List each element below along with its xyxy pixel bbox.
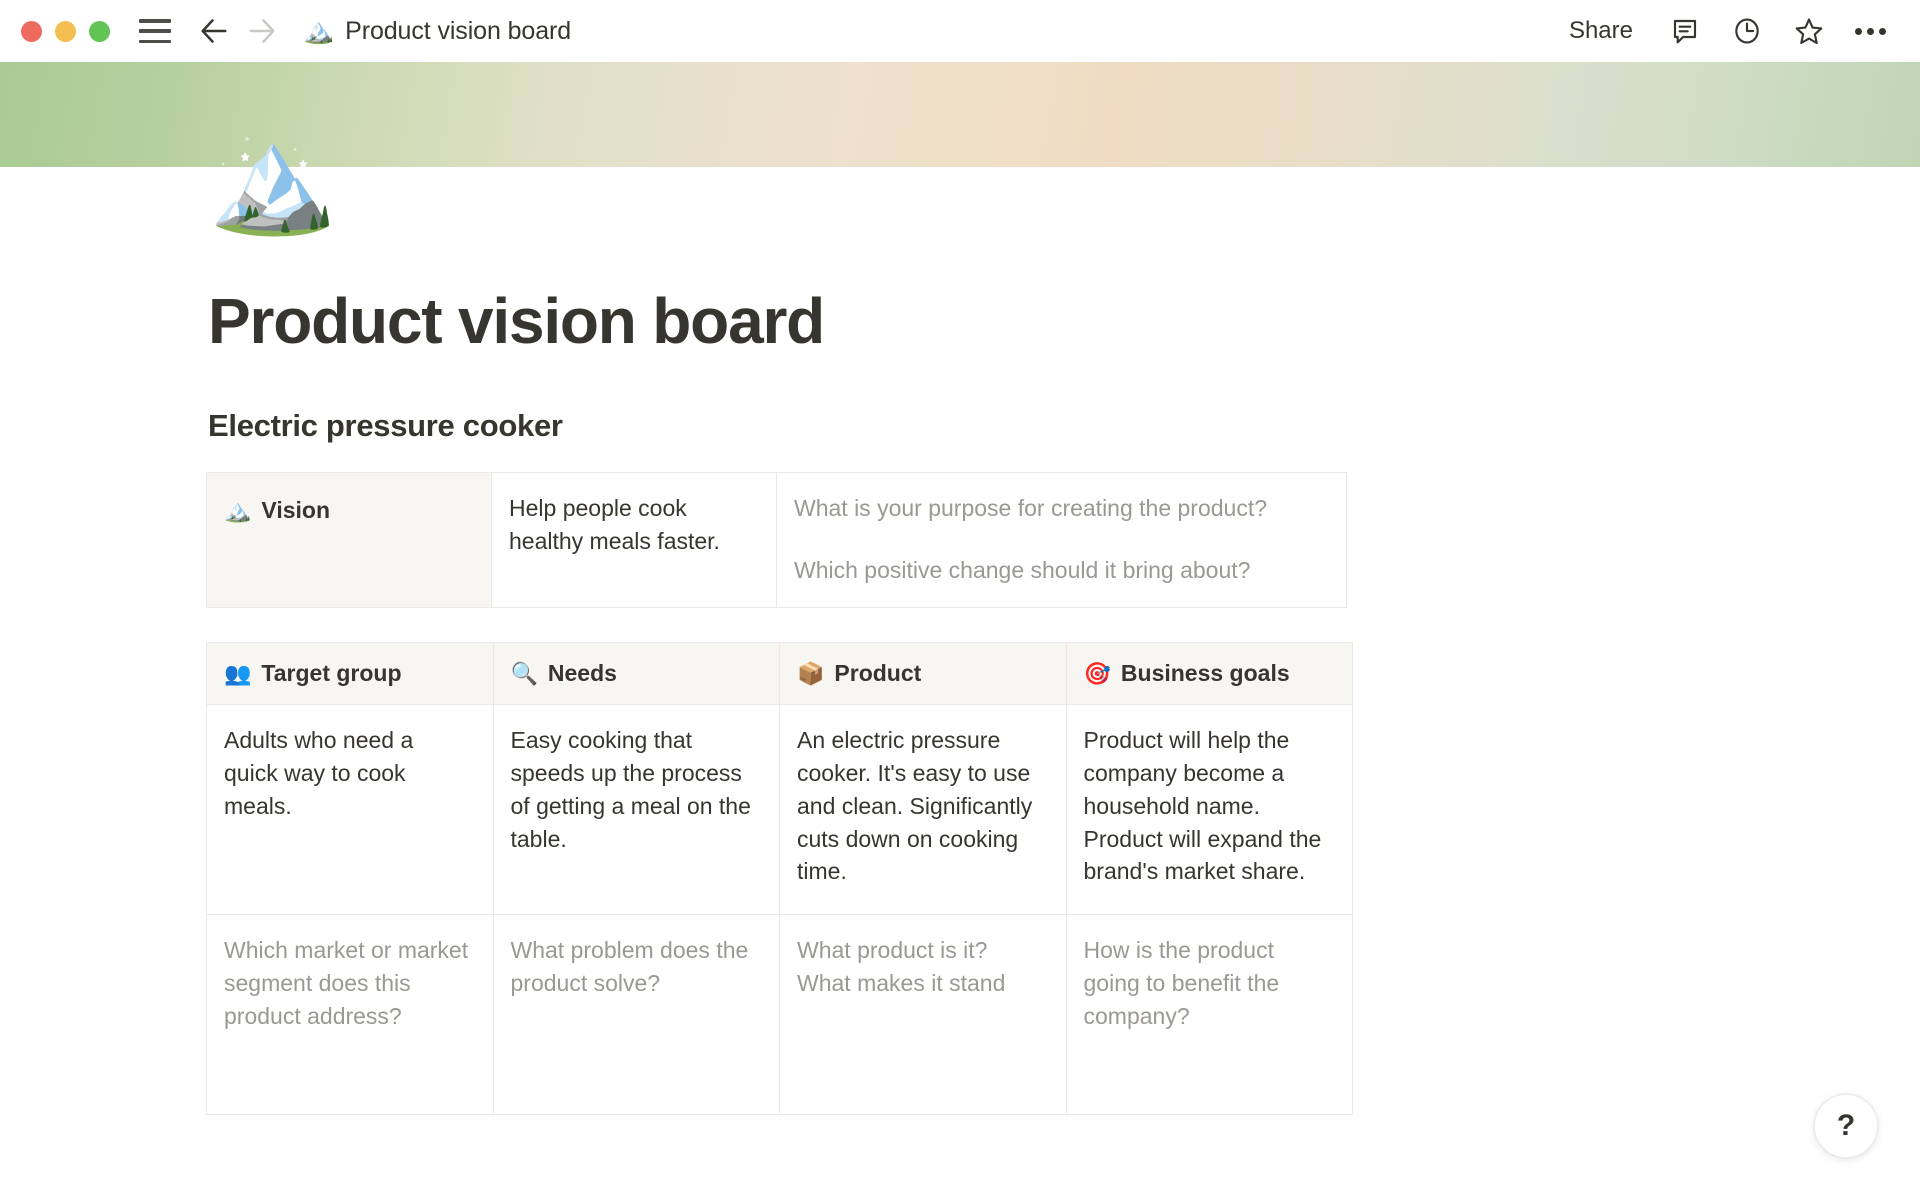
close-window-button[interactable]: [21, 21, 42, 42]
hamburger-bar: [139, 29, 171, 33]
header-cell-target-group[interactable]: 👥 Target group: [207, 643, 494, 705]
vision-label-text: Vision: [261, 494, 330, 527]
header-label: Product: [834, 657, 921, 690]
mountain-icon: 🏔️: [224, 500, 251, 522]
header-cell-needs[interactable]: 🔍 Needs: [493, 643, 780, 705]
page-icon-emoji[interactable]: 🏔️: [208, 128, 338, 232]
cell-business-goals-prompt[interactable]: How is the product going to benefit the …: [1066, 914, 1353, 1114]
header-cell-product[interactable]: 📦 Product: [780, 643, 1067, 705]
share-button[interactable]: Share: [1563, 13, 1639, 49]
vision-board-table: 👥 Target group 🔍 Needs 📦 Product 🎯: [206, 642, 1353, 1115]
page-title[interactable]: Product vision board: [208, 286, 824, 356]
target-icon: 🎯: [1084, 663, 1111, 685]
arrow-right-icon[interactable]: [245, 14, 279, 48]
vision-label-cell[interactable]: 🏔️ Vision: [207, 473, 492, 608]
cell-target-group-prompt[interactable]: Which market or market segment does this…: [207, 914, 494, 1114]
package-icon: 📦: [797, 663, 824, 685]
minimize-window-button[interactable]: [55, 21, 76, 42]
cell-needs-prompt[interactable]: What problem does the product solve?: [493, 914, 780, 1114]
header-cell-business-goals[interactable]: 🎯 Business goals: [1066, 643, 1353, 705]
cell-needs-value[interactable]: Easy cooking that speeds up the process …: [493, 704, 780, 914]
maximize-window-button[interactable]: [89, 21, 110, 42]
people-icon: 👥: [224, 663, 251, 685]
topbar-actions: Share: [1563, 13, 1886, 49]
star-icon[interactable]: [1793, 15, 1825, 47]
cell-business-goals-value[interactable]: Product will help the company become a h…: [1066, 704, 1353, 914]
cell-product-value[interactable]: An electric pressure cooker. It's easy t…: [780, 704, 1067, 914]
header-label: Business goals: [1121, 657, 1290, 690]
window-titlebar: 🏔️ Product vision board Share: [0, 0, 1920, 62]
ellipsis-dot: [1879, 28, 1886, 35]
comment-icon[interactable]: [1669, 15, 1701, 47]
cell-target-group-value[interactable]: Adults who need a quick way to cook meal…: [207, 704, 494, 914]
breadcrumb[interactable]: 🏔️ Product vision board: [303, 17, 571, 46]
prompt-line: Which positive change should it bring ab…: [794, 554, 1326, 587]
help-button[interactable]: ?: [1814, 1094, 1878, 1158]
breadcrumb-title: Product vision board: [345, 17, 571, 46]
hamburger-bar: [139, 19, 171, 23]
hamburger-icon[interactable]: [139, 19, 171, 43]
cell-product-prompt[interactable]: What product is it? What makes it stand: [780, 914, 1067, 1114]
vision-table: 🏔️ Vision Help people cook healthy meals…: [206, 472, 1347, 608]
prompt-line: What is your purpose for creating the pr…: [794, 492, 1326, 525]
table-row: Which market or market segment does this…: [207, 914, 1353, 1114]
ellipsis-icon[interactable]: [1855, 28, 1886, 35]
navigation-arrows: [197, 14, 279, 48]
vision-value-cell[interactable]: Help people cook healthy meals faster.: [492, 473, 777, 608]
table-header-row: 👥 Target group 🔍 Needs 📦 Product 🎯: [207, 643, 1353, 705]
breadcrumb-emoji-icon: 🏔️: [303, 19, 334, 44]
arrow-left-icon[interactable]: [197, 14, 231, 48]
hamburger-bar: [139, 40, 171, 44]
table-row: Adults who need a quick way to cook meal…: [207, 704, 1353, 914]
magnifier-icon: 🔍: [511, 663, 538, 685]
vision-prompt-cell[interactable]: What is your purpose for creating the pr…: [777, 473, 1347, 608]
ellipsis-dot: [1867, 28, 1874, 35]
section-heading[interactable]: Electric pressure cooker: [208, 408, 563, 444]
header-label: Target group: [261, 657, 401, 690]
ellipsis-dot: [1855, 28, 1862, 35]
header-label: Needs: [548, 657, 617, 690]
clock-history-icon[interactable]: [1731, 15, 1763, 47]
table-row: 🏔️ Vision Help people cook healthy meals…: [207, 473, 1347, 608]
traffic-lights: [21, 21, 110, 42]
